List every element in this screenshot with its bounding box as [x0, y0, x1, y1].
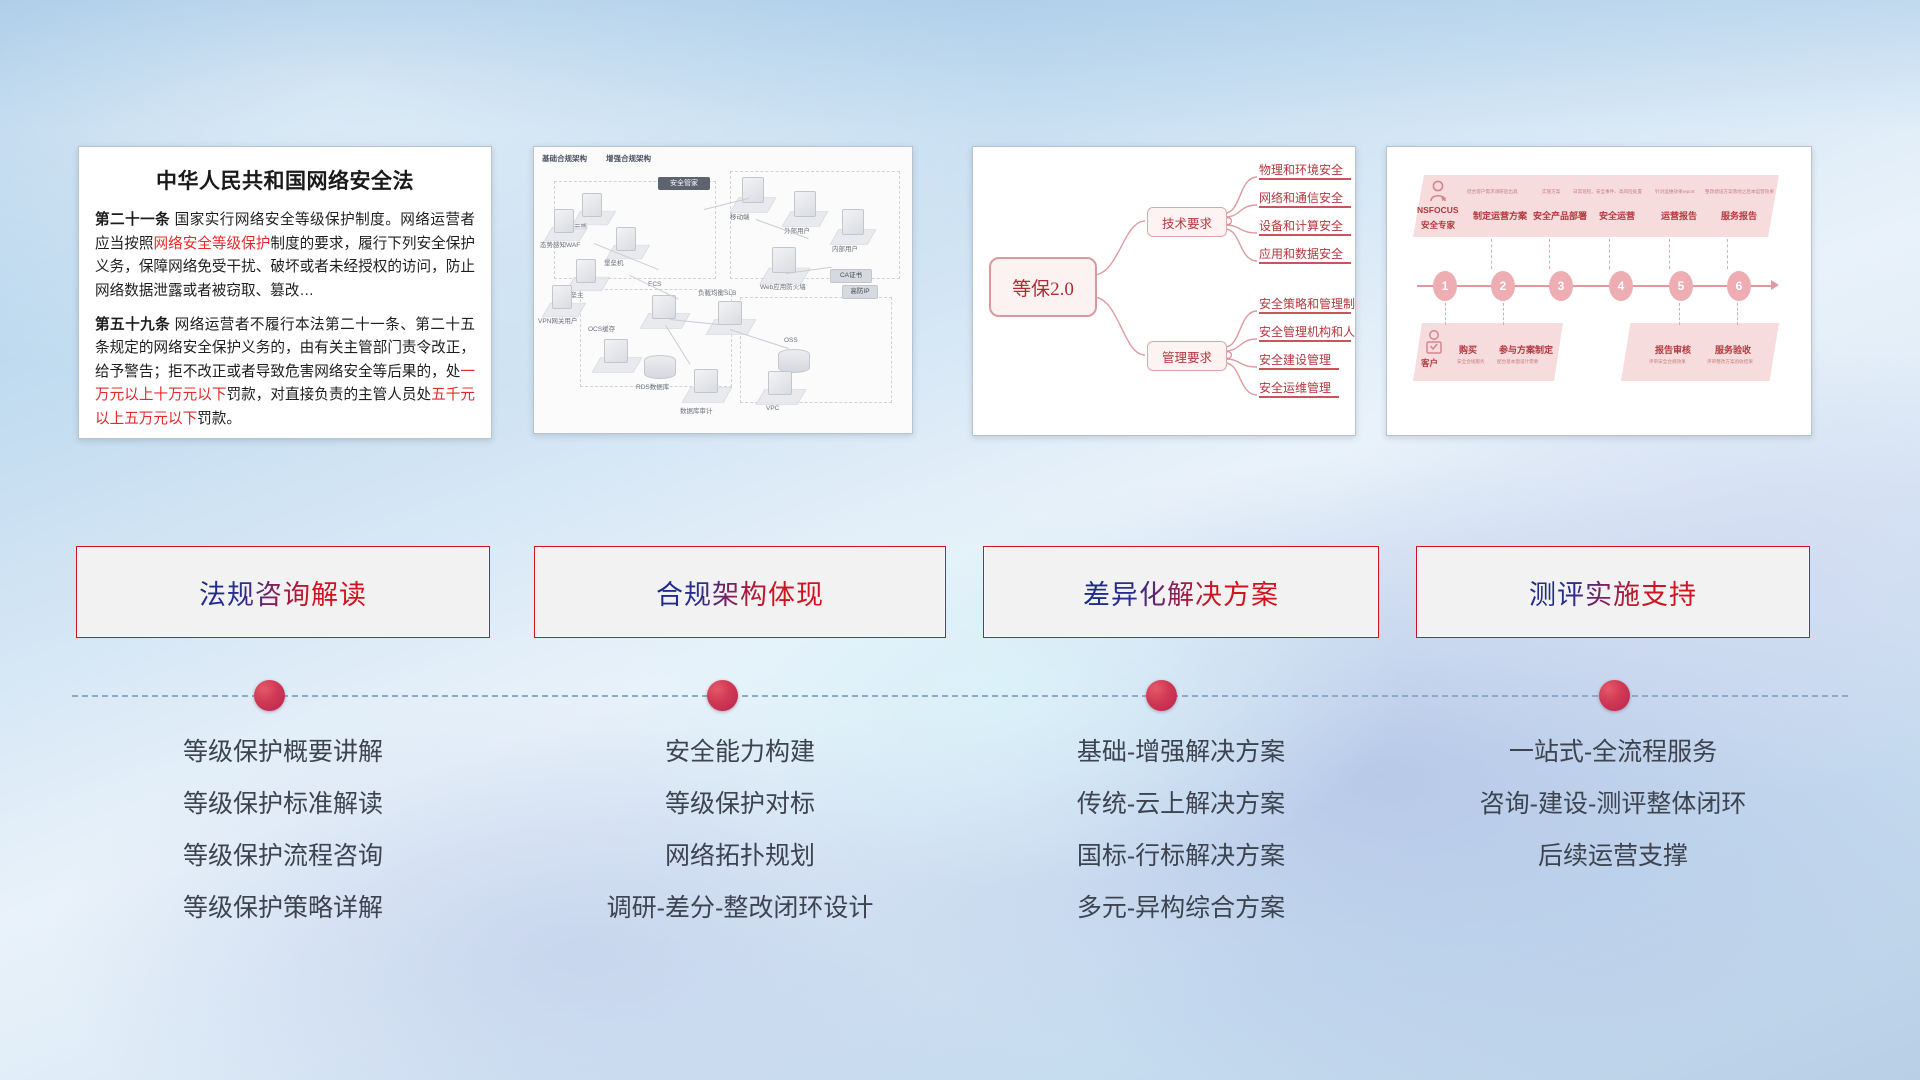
- detail-column-3: 基础-增强解决方案 传统-云上解决方案 国标-行标解决方案 多元-异构综合方案: [983, 740, 1379, 948]
- law-seg-highlight: 网络安全等级保护: [153, 236, 270, 252]
- timeline-bottom-sub: 评审整改方案验收结果: [1707, 359, 1753, 365]
- timeline-top-title: 安全运营: [1599, 209, 1635, 222]
- timeline-top-sub: 整改建设方案落地之后本运营效果: [1705, 189, 1774, 195]
- section-heading-box-3[interactable]: 差异化解决方案: [983, 546, 1379, 638]
- section-heading-box-1[interactable]: 法规咨询解读: [76, 546, 490, 638]
- card-cybersecurity-law: 中华人民共和国网络安全法 第二十一条 国家实行网络安全等级保护制度。网络运营者应…: [78, 146, 492, 439]
- arch-node-Web应用防火墙: Web应用防火墙: [760, 281, 806, 291]
- law-article-label-2: 第五十九条: [95, 317, 170, 333]
- detail-item: 安全能力构建: [534, 740, 946, 765]
- timeline-bottom-sub: 安全合规服务: [1457, 359, 1485, 365]
- timeline-top-title: 制定运营方案: [1473, 209, 1527, 222]
- arch-node-VPC: VPC: [766, 405, 779, 412]
- timeline-bottom-title: 参与方案制定: [1499, 343, 1553, 356]
- law-paragraph-2: 第五十九条 网络运营者不履行本法第二十一条、第二十五条规定的网络安全保护义务的，…: [95, 314, 475, 432]
- timeline-step-2: 2: [1491, 271, 1515, 301]
- detail-item: 网络拓扑规划: [534, 844, 946, 869]
- rail-node-1[interactable]: [254, 680, 285, 711]
- timeline-bottom-sub: 配合基本面设计需要: [1497, 359, 1538, 365]
- law-seg: 罚款，对直接负责的主管人员处: [227, 387, 432, 403]
- rail-node-3[interactable]: [1146, 680, 1177, 711]
- timeline-top-sub: 针对运维效果report: [1655, 189, 1695, 195]
- arch-header-left: 基础合规架构: [542, 153, 587, 164]
- rail-node-2[interactable]: [707, 680, 738, 711]
- card-compliance-architecture: 基础合规架构 增强合规架构 安全管家 云盾 态势感知WAF 堡垒机 堡垒主: [533, 146, 913, 434]
- timeline-top-title: 服务报告: [1721, 209, 1757, 222]
- rail-node-4[interactable]: [1599, 680, 1630, 711]
- arch-node-堡垒机: 堡垒机: [604, 257, 624, 267]
- timeline-top-sub: 结合客户需求调研后出具: [1467, 189, 1518, 195]
- arch-node-高防IP: 高防IP: [842, 285, 878, 299]
- detail-item: 传统-云上解决方案: [983, 792, 1379, 817]
- timeline-actor-expert-line1: NSFOCUS: [1417, 205, 1459, 215]
- mindmap-diagram: 等保2.0 技术要求 管理要求 物理和环境安全 网络和通信安全 设备和计算安全 …: [973, 147, 1355, 435]
- arch-node-RDS数据库: RDS数据库: [636, 381, 669, 391]
- detail-item: 等级保护对标: [534, 792, 946, 817]
- detail-item: 等级保护概要讲解: [76, 740, 490, 765]
- detail-column-4: 一站式-全流程服务 咨询-建设-测评整体闭环 后续运营支撑: [1416, 740, 1810, 896]
- timeline-bottom-sub: 评审安全合规效果: [1649, 359, 1686, 365]
- mindmap-root-node: 等保2.0: [989, 257, 1097, 317]
- detail-item: 基础-增强解决方案: [983, 740, 1379, 765]
- detail-column-1: 等级保护概要讲解 等级保护标准解读 等级保护流程咨询 等级保护策略详解: [76, 740, 490, 948]
- arch-header-right: 增强合规架构: [606, 153, 651, 164]
- rail-dashed-line: [72, 695, 1848, 697]
- timeline-step-3: 3: [1549, 271, 1573, 301]
- arch-node-内部用户: 内部用户: [832, 243, 858, 253]
- section-heading-label-3: 差异化解决方案: [1083, 573, 1279, 612]
- customer-avatar-icon: [1423, 329, 1445, 355]
- arch-node-数据库审计: 数据库审计: [680, 405, 713, 415]
- section-detail-columns: 等级保护概要讲解 等级保护标准解读 等级保护流程咨询 等级保护策略详解 安全能力…: [0, 740, 1920, 960]
- detail-item: 等级保护标准解读: [76, 792, 490, 817]
- arch-node-CA证书: CA证书: [830, 269, 872, 283]
- arch-node-OSS: OSS: [784, 337, 798, 344]
- timeline-top-sub: 实施方案: [1542, 189, 1560, 195]
- section-heading-row: 法规咨询解读 合规架构体现 差异化解决方案 测评实施支持: [0, 546, 1920, 642]
- law-title: 中华人民共和国网络安全法: [95, 165, 475, 195]
- timeline-top-title: 安全产品部署: [1533, 209, 1587, 222]
- detail-item: 多元-异构综合方案: [983, 896, 1379, 921]
- timeline-actor-expert-line2: 安全专家: [1421, 219, 1455, 231]
- section-heading-label-1: 法规咨询解读: [199, 573, 367, 612]
- detail-item: 调研-差分-整改闭环设计: [534, 896, 946, 921]
- detail-item: 等级保护流程咨询: [76, 844, 490, 869]
- timeline-bottom-title: 服务验收: [1715, 343, 1751, 356]
- mindmap-branch-technical: 技术要求: [1147, 207, 1227, 237]
- card-service-timeline: NSFOCUS 安全专家 结合客户需求调研后出具 制定运营方案 实施方案 安全产…: [1386, 146, 1812, 436]
- arch-node-OCS缓存: OCS缓存: [588, 323, 615, 333]
- detail-column-2: 安全能力构建 等级保护对标 网络拓扑规划 调研-差分-整改闭环设计: [534, 740, 946, 948]
- detail-item: 等级保护策略详解: [76, 896, 490, 921]
- detail-item: 国标-行标解决方案: [983, 844, 1379, 869]
- card-mindmap-dengbao: 等保2.0 技术要求 管理要求 物理和环境安全 网络和通信安全 设备和计算安全 …: [972, 146, 1356, 436]
- timeline-rail: [0, 680, 1920, 740]
- arch-node-VPN网关用户: VPN网关用户: [538, 315, 577, 325]
- expert-avatar-icon: [1425, 179, 1451, 205]
- law-article-label-1: 第二十一条: [95, 212, 170, 228]
- timeline-step-5: 5: [1669, 271, 1693, 301]
- law-seg: 罚款。: [197, 411, 241, 427]
- timeline-step-1: 1: [1433, 271, 1457, 301]
- detail-item: 一站式-全流程服务: [1416, 740, 1810, 765]
- timeline-bottom-title: 购买: [1459, 343, 1477, 356]
- section-heading-box-2[interactable]: 合规架构体现: [534, 546, 946, 638]
- arch-node-移动端: 移动端: [730, 211, 750, 221]
- timeline-top-title: 运营报告: [1661, 209, 1697, 222]
- section-heading-box-4[interactable]: 测评实施支持: [1416, 546, 1810, 638]
- service-timeline-diagram: NSFOCUS 安全专家 结合客户需求调研后出具 制定运营方案 实施方案 安全产…: [1387, 147, 1811, 435]
- timeline-step-6: 6: [1727, 271, 1751, 301]
- illustration-card-row: 中华人民共和国网络安全法 第二十一条 国家实行网络安全等级保护制度。网络运营者应…: [0, 146, 1920, 446]
- law-paragraph-1: 第二十一条 国家实行网络安全等级保护制度。网络运营者应当按照网络安全等级保护制度…: [95, 209, 475, 304]
- arch-node-负载均衡SLB: 负载均衡SLB: [698, 287, 736, 297]
- mindmap-branch-management: 管理要求: [1147, 341, 1227, 371]
- timeline-step-4: 4: [1609, 271, 1633, 301]
- section-heading-label-4: 测评实施支持: [1529, 573, 1697, 612]
- detail-item: 后续运营支撑: [1416, 844, 1810, 869]
- arch-node-安全管家: 安全管家: [658, 177, 710, 190]
- arch-node-态势感知WAF: 态势感知WAF: [540, 239, 580, 249]
- timeline-actor-customer: 客户: [1421, 357, 1438, 369]
- timeline-top-sub: 日常巡检、安全事件、高风险处置: [1573, 189, 1642, 195]
- section-heading-label-2: 合规架构体现: [656, 573, 824, 612]
- detail-item: 咨询-建设-测评整体闭环: [1416, 792, 1810, 817]
- timeline-bottom-title: 报告审核: [1655, 343, 1691, 356]
- architecture-diagram: 基础合规架构 增强合规架构 安全管家 云盾 态势感知WAF 堡垒机 堡垒主: [534, 147, 912, 433]
